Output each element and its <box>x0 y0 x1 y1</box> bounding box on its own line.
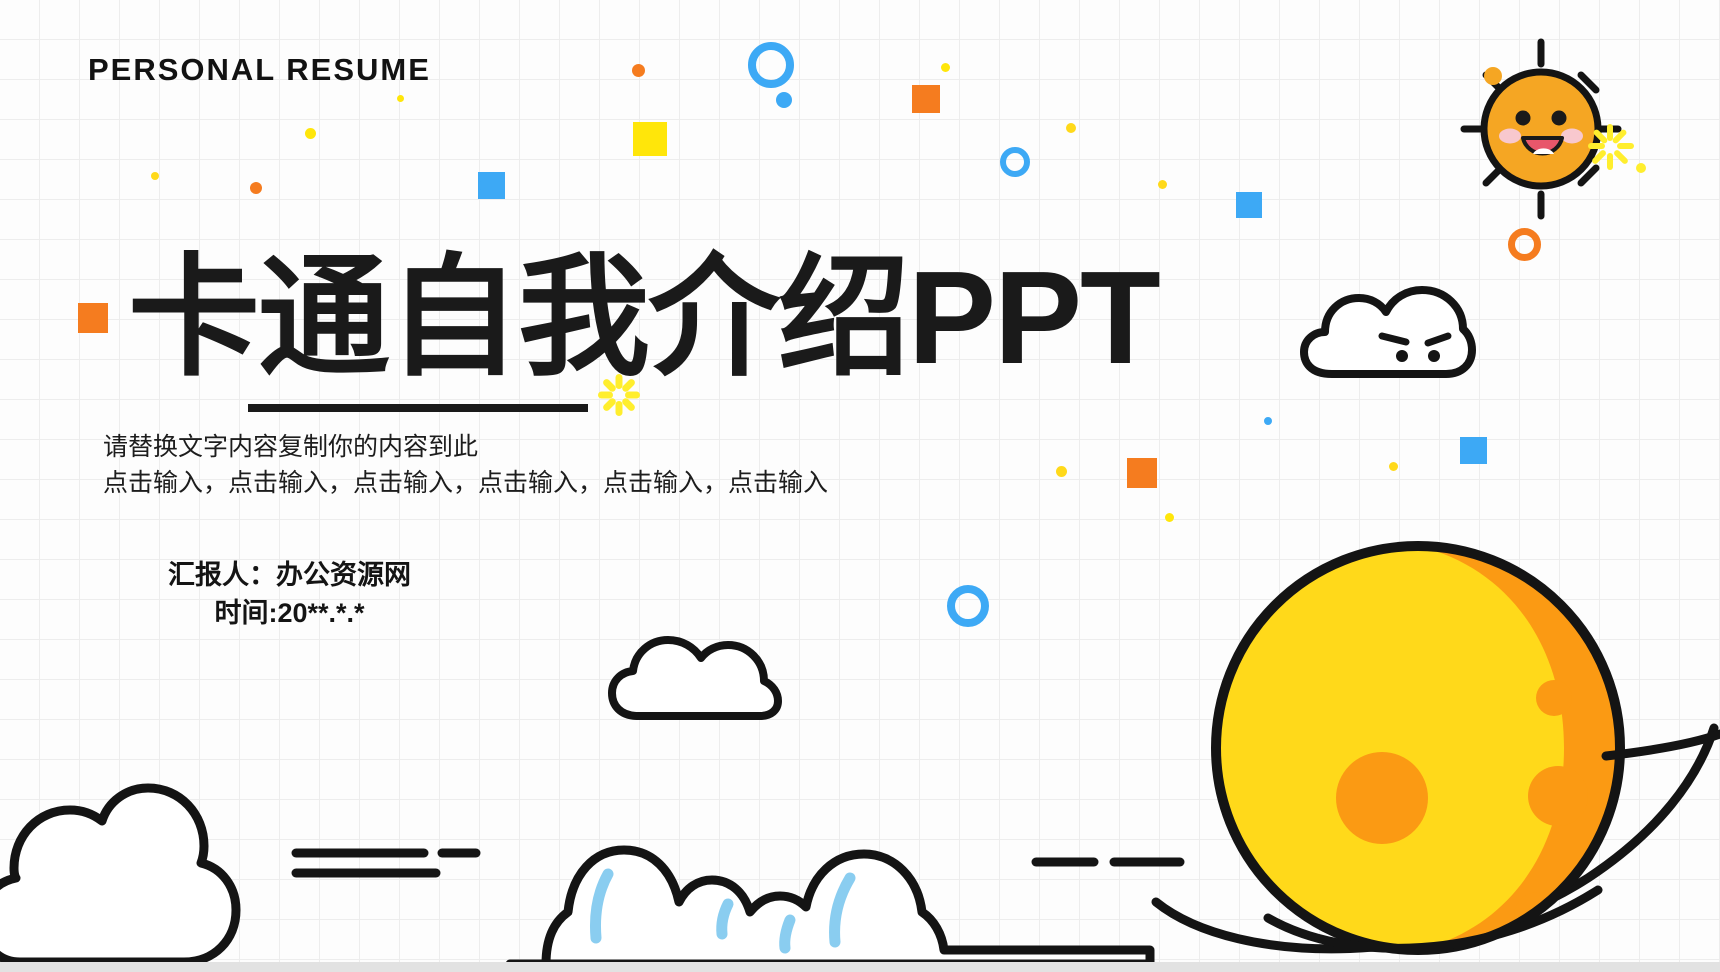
presentation-slide: PERSONAL RESUME 卡通自我介绍PPT 请替换文字内容复制你的内容到… <box>0 0 1720 972</box>
ringed-planet-icon <box>1118 498 1720 972</box>
title-underline <box>248 404 588 412</box>
confetti-ring <box>748 42 794 88</box>
presenter-block: 汇报人：办公资源网 时间:20**.*.* <box>168 556 411 633</box>
confetti-plus <box>912 85 940 113</box>
cloud-icon <box>604 620 784 730</box>
confetti-dot <box>1056 466 1067 477</box>
ground-dashes <box>1030 852 1230 878</box>
grumpy-cloud-icon <box>1296 276 1476 386</box>
confetti-dot <box>776 92 792 108</box>
confetti-plus <box>1460 437 1487 464</box>
confetti-plus <box>633 122 667 156</box>
subtitle-line-2: 点击输入，点击输入，点击输入，点击输入，点击输入，点击输入 <box>103 466 828 502</box>
confetti-dot <box>1264 417 1272 425</box>
ground-dashes <box>290 845 590 885</box>
confetti-dot <box>632 64 645 77</box>
confetti-dot <box>151 172 159 180</box>
presentation-date: 时间:20**.*.* <box>168 594 411 632</box>
confetti-plus <box>78 303 108 333</box>
page-kicker: PERSONAL RESUME <box>88 52 431 88</box>
confetti-plus <box>478 172 505 199</box>
confetti-dot <box>397 95 404 102</box>
confetti-ring <box>1508 228 1541 261</box>
cloud-icon <box>0 740 290 972</box>
confetti-plus <box>1236 192 1262 218</box>
page-title: 卡通自我介绍PPT <box>128 252 1159 384</box>
confetti-dot <box>305 128 316 139</box>
confetti-ring <box>1000 147 1030 177</box>
subtitle-line-1: 请替换文字内容复制你的内容到此 <box>103 430 828 466</box>
confetti-dot <box>1066 123 1076 133</box>
presenter-name: 汇报人：办公资源网 <box>168 556 411 594</box>
confetti-ring <box>947 585 989 627</box>
subtitle-block: 请替换文字内容复制你的内容到此 点击输入，点击输入，点击输入，点击输入，点击输入… <box>103 430 828 501</box>
confetti-dot <box>1158 180 1167 189</box>
sun-face-icon <box>1438 28 1648 228</box>
confetti-plus <box>1127 458 1157 488</box>
confetti-dot <box>941 63 950 72</box>
confetti-dot <box>1389 462 1398 471</box>
ground-strip <box>0 962 1720 972</box>
confetti-dot <box>250 182 262 194</box>
